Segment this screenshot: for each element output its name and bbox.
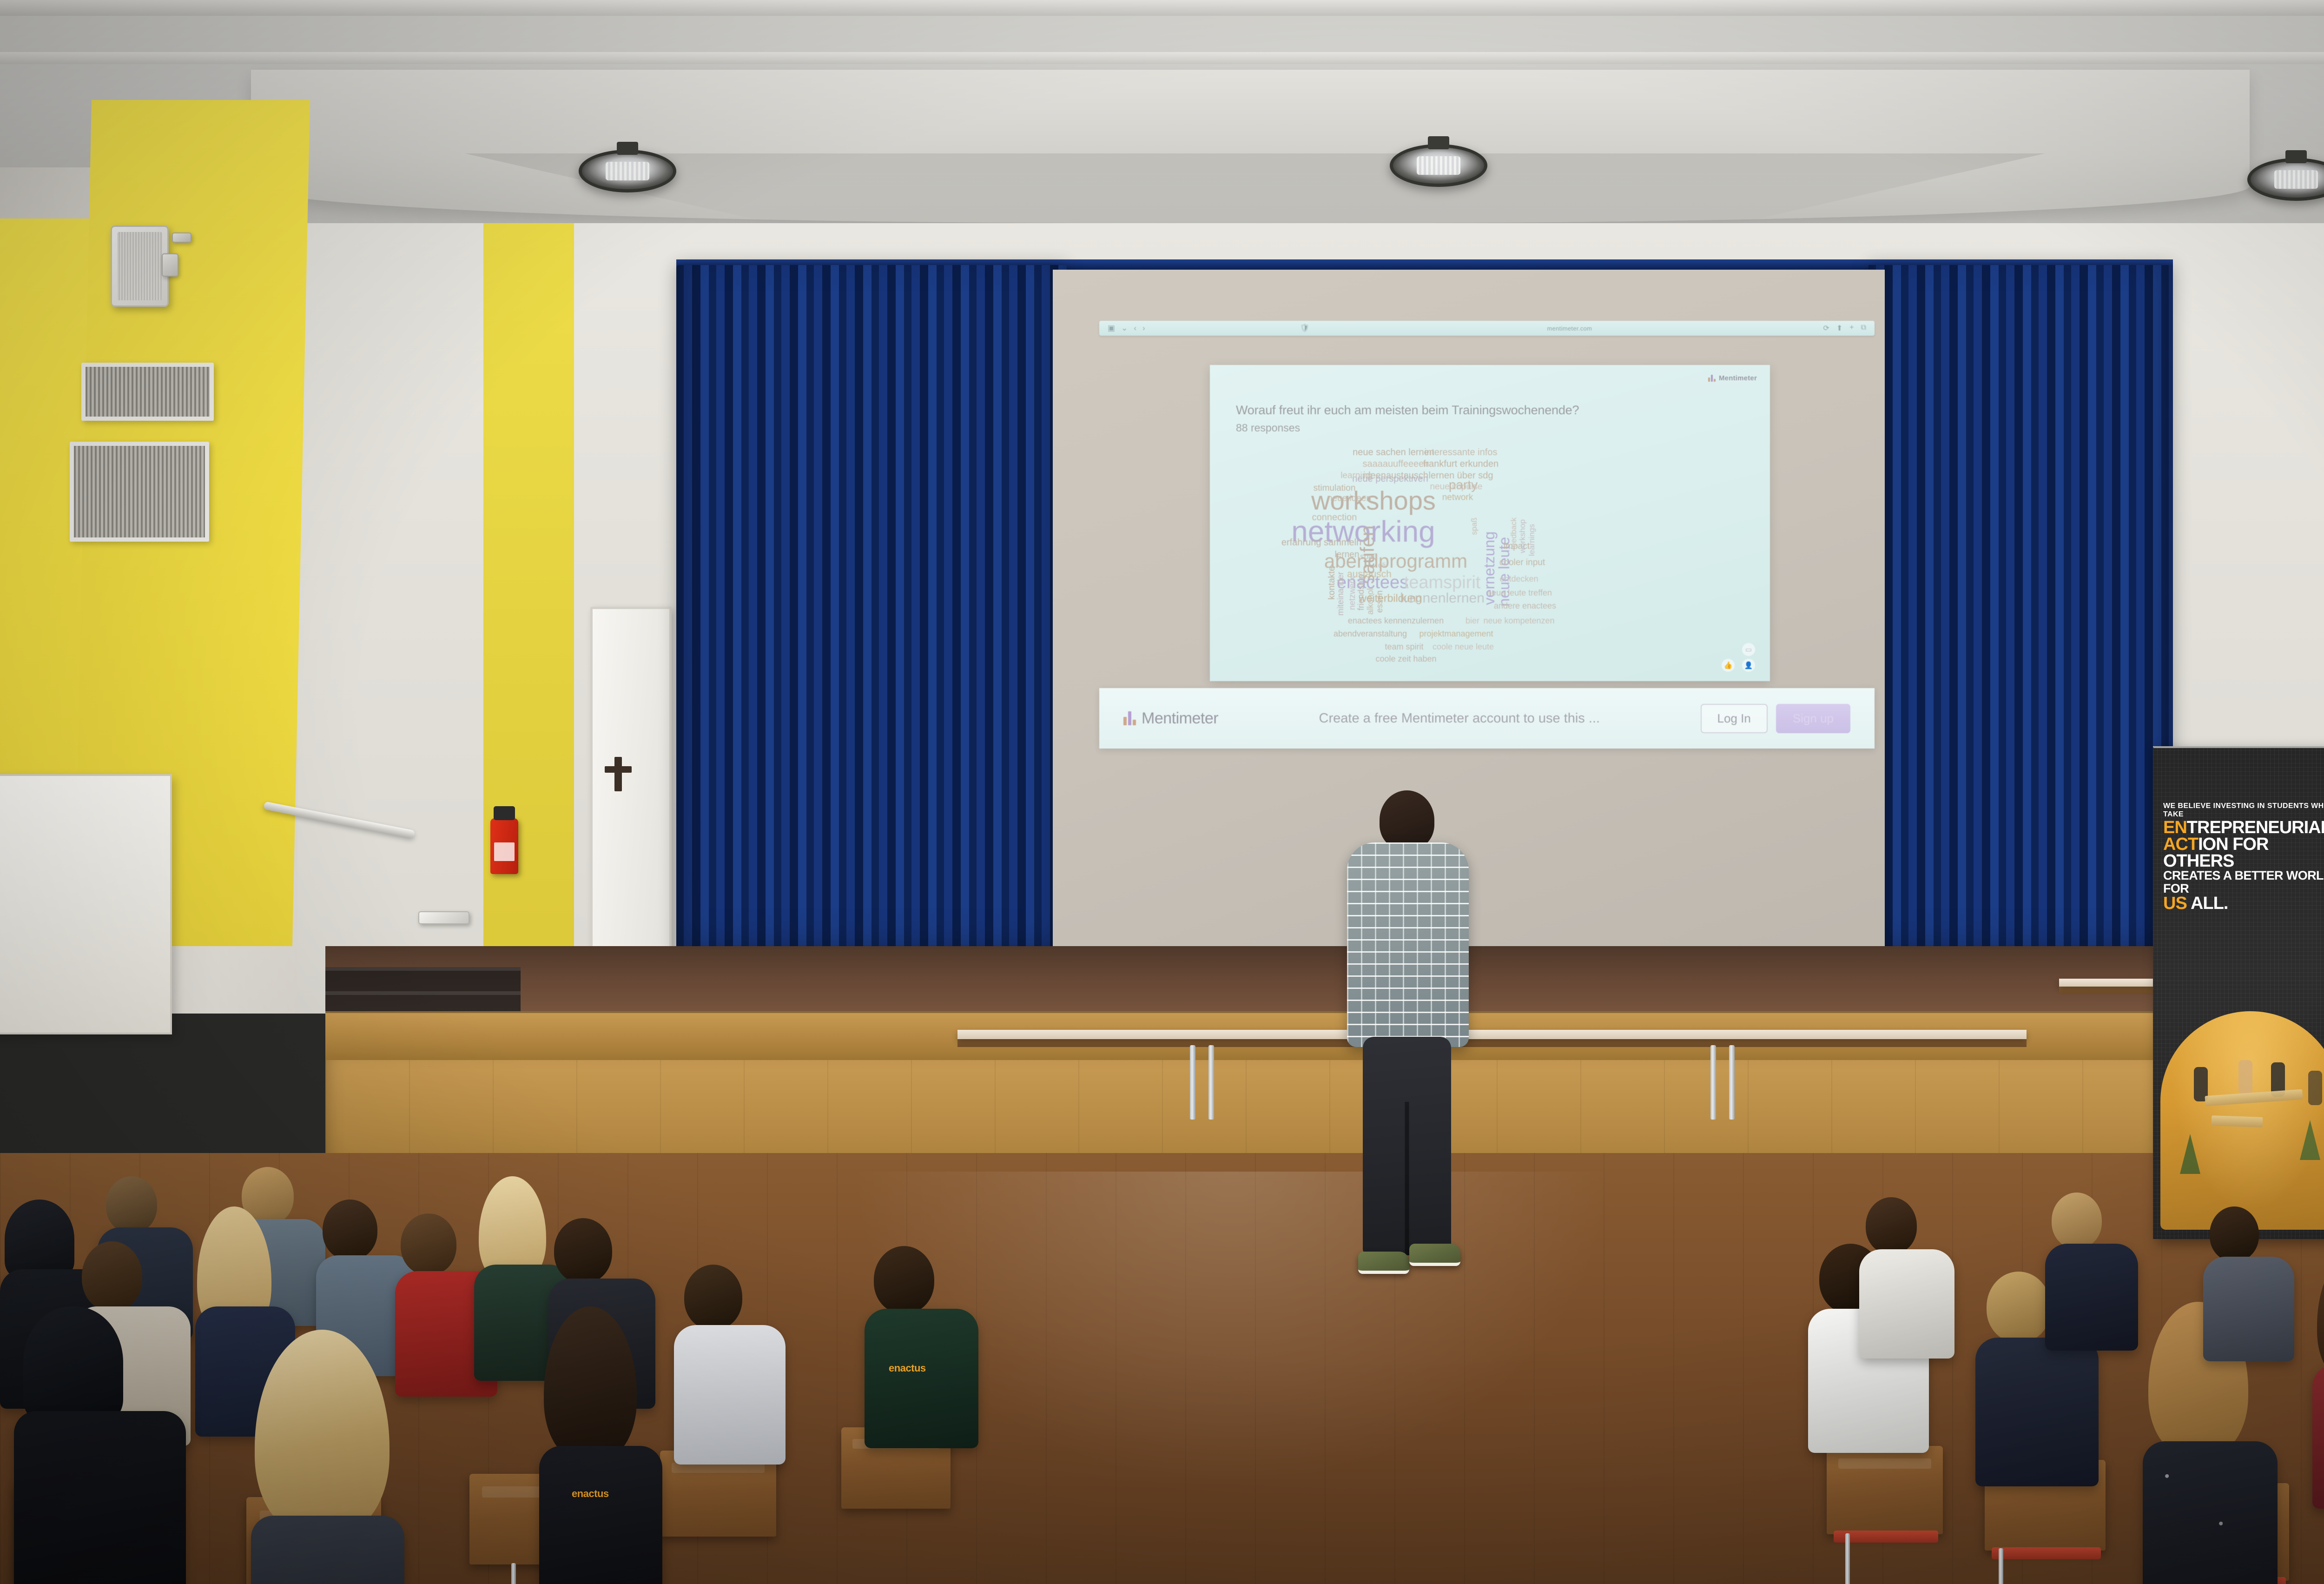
word-cloud-term: saaaauuffeeeen — [1362, 459, 1429, 469]
presenter-head — [1380, 790, 1434, 850]
shield-icon[interactable]: 🛡 — [1300, 324, 1310, 333]
stage-curtain-left — [676, 265, 1067, 972]
head — [684, 1265, 742, 1330]
mentimeter-slide: Mentimeter Worauf freut ihr euch am meis… — [1210, 365, 1770, 681]
word-cloud-term: kontakte — [1327, 566, 1336, 600]
torso — [2045, 1244, 2138, 1351]
head — [554, 1218, 612, 1283]
participant-icon[interactable]: 👤 — [1742, 659, 1755, 672]
chair-leg — [1845, 1533, 1850, 1584]
ceiling-light-icon — [579, 150, 676, 192]
hair — [2317, 1248, 2324, 1383]
head-hood — [5, 1200, 74, 1279]
word-cloud-term: enactees kennenzulernen — [1348, 616, 1444, 625]
word-cloud-term: lernen — [1335, 550, 1360, 559]
mentimeter-logo-icon — [1708, 375, 1716, 382]
presenter-shirt — [1347, 842, 1469, 1047]
audience: enactus enactus — [0, 1107, 2324, 1584]
crucifix-icon — [614, 757, 622, 791]
ceiling-light-icon — [1390, 144, 1487, 187]
chevron-down-icon[interactable]: ⌄ — [1121, 324, 1128, 333]
word-cloud-term: stimulation — [1314, 484, 1356, 493]
word-cloud-term: essen — [1375, 590, 1384, 613]
banner-message: Create a free Mentimeter account to use … — [1218, 711, 1700, 726]
word-cloud-term: learnings — [1528, 524, 1536, 556]
head — [1866, 1197, 1917, 1254]
word-cloud-term: frankfurt erkunden — [1423, 459, 1499, 469]
word-cloud-term: andere enactees — [1494, 602, 1556, 610]
head — [2210, 1206, 2259, 1261]
word-cloud-term: coole zeit haben — [1375, 655, 1436, 663]
head — [401, 1213, 456, 1275]
browser-toolbar: ▣ ⌄ ‹ › 🛡 mentimeter.com ⟳ ⬆ + ⧉ — [1099, 321, 1875, 336]
av-bracket — [172, 232, 191, 243]
chair-leg — [1999, 1548, 2003, 1584]
chair[interactable] — [1827, 1446, 1943, 1534]
word-cloud-term: bier — [1466, 616, 1479, 625]
word-cloud-term: abendveranstaltung — [1334, 630, 1407, 638]
bench-table — [957, 1030, 2027, 1039]
sign-up-button[interactable]: Sign up — [1776, 704, 1850, 733]
word-cloud-term: neue leute treffen — [1487, 589, 1552, 597]
chair-leg — [511, 1563, 516, 1584]
fire-extinguisher-icon — [490, 818, 518, 874]
wall-speaker-icon — [111, 225, 169, 307]
enactus-tee-logo: enactus — [572, 1488, 609, 1500]
head-hood — [23, 1306, 123, 1423]
projected-browser-window: ▣ ⌄ ‹ › 🛡 mentimeter.com ⟳ ⬆ + ⧉ Mentime… — [1095, 321, 1880, 753]
word-cloud-term: alkohol — [1366, 588, 1374, 615]
torso — [2312, 1365, 2324, 1509]
back-button-icon[interactable]: ‹ — [1134, 324, 1136, 333]
head — [1987, 1272, 2051, 1342]
acoustic-panel — [81, 363, 214, 421]
torso — [539, 1446, 662, 1584]
word-cloud-term: feedback — [1510, 517, 1518, 550]
slide-response-count: 88 responses — [1236, 422, 1300, 434]
new-tab-icon[interactable]: + — [1849, 324, 1854, 333]
word-cloud-term: spaß — [1360, 553, 1378, 561]
slide-question: Worauf freut ihr euch am meisten beim Tr… — [1236, 403, 1579, 418]
auditorium-scene: 22 ▣ ⌄ ‹ › 🛡 mentimeter.com ⟳ ⬆ + ⧉ — [0, 0, 2324, 1584]
word-cloud-term: workshop — [1519, 519, 1526, 553]
torso — [2143, 1441, 2278, 1584]
screen-icon[interactable]: ▭ — [1742, 643, 1755, 656]
word-cloud-term: coole neue leute — [1433, 643, 1494, 651]
torso — [14, 1411, 186, 1584]
thumbs-up-icon[interactable]: 👍 — [1722, 659, 1735, 672]
word-cloud-term: neue ideen — [1327, 494, 1371, 503]
torso — [1859, 1249, 1954, 1359]
sidebar-toggle-icon[interactable]: ▣ — [1108, 324, 1115, 333]
head — [106, 1176, 157, 1233]
word-cloud-term: neue impulse — [1430, 483, 1482, 491]
signup-banner: Mentimeter Create a free Mentimeter acco… — [1099, 688, 1875, 749]
stage-curtain-right — [1868, 265, 2173, 972]
word-cloud-term: interessante infos — [1425, 448, 1498, 457]
torso — [251, 1516, 404, 1584]
power-outlet — [418, 911, 469, 924]
word-cloud-term: ideenaustausch — [1363, 471, 1428, 480]
rollup-line5-rest: ALL. — [2191, 894, 2228, 913]
word-cloud-term: cooler input — [1499, 558, 1545, 567]
torso — [2203, 1257, 2294, 1361]
word-cloud-term: entdecken — [1499, 575, 1538, 583]
log-in-button[interactable]: Log In — [1701, 704, 1768, 733]
word-cloud-term: projektmanagement — [1419, 630, 1493, 638]
torso — [865, 1309, 978, 1448]
rollup-line3: ACTION FOR OTHERS — [2163, 836, 2324, 869]
mentimeter-banner-logo: Mentimeter — [1123, 709, 1218, 728]
torso — [674, 1325, 786, 1465]
mentimeter-watermark: Mentimeter — [1708, 374, 1757, 382]
word-cloud-term: neue sachen lernen — [1353, 448, 1434, 457]
head — [2052, 1193, 2102, 1248]
av-bracket — [162, 253, 178, 277]
forward-button-icon[interactable]: › — [1142, 324, 1145, 333]
chair-cushion — [1992, 1547, 2101, 1559]
word-cloud: networkingworkshopsabendprogrammsaufenen… — [1210, 435, 1770, 667]
share-icon[interactable]: ⬆ — [1836, 324, 1842, 333]
ceiling — [0, 0, 2324, 260]
tab-overview-icon[interactable]: ⧉ — [1861, 324, 1866, 333]
word-cloud-term: spaß — [1470, 517, 1478, 535]
reload-icon[interactable]: ⟳ — [1823, 324, 1829, 333]
rollup-line5-highlight: US — [2163, 894, 2187, 913]
mentimeter-watermark-label: Mentimeter — [1719, 374, 1757, 382]
mentimeter-logo-icon — [1123, 711, 1136, 725]
head — [82, 1241, 142, 1311]
acoustic-panel — [70, 442, 209, 542]
enactus-tee-logo: enactus — [889, 1362, 926, 1374]
word-cloud-term: friendship — [1357, 574, 1365, 610]
torso — [1975, 1338, 2099, 1486]
word-cloud-term: teamspirit — [1404, 574, 1481, 591]
word-cloud-term: oli — [1378, 562, 1386, 570]
exit-door[interactable] — [590, 607, 672, 951]
address-bar[interactable]: mentimeter.com — [1316, 325, 1823, 332]
word-cloud-term: learning — [1340, 471, 1372, 480]
word-cloud-term: miteinander — [1336, 572, 1345, 616]
rollup-line4: CREATES A BETTER WORLD FOR — [2163, 869, 2324, 895]
word-cloud-term: erfahrung sammeln — [1281, 538, 1361, 547]
word-cloud-term: network — [1442, 493, 1473, 502]
word-cloud-term: netzwerk — [1348, 577, 1356, 610]
word-cloud-term: connection — [1312, 513, 1357, 522]
word-cloud-term: lernen über sdg — [1429, 471, 1493, 480]
head — [874, 1246, 934, 1313]
flipchart — [0, 774, 172, 1034]
rollup-line1: WE BELIEVE INVESTING IN STUDENTS WHO TAK… — [2163, 802, 2324, 819]
head — [323, 1200, 377, 1260]
word-cloud-term: team spirit — [1385, 643, 1423, 651]
rollup-line5: US ALL. — [2163, 895, 2324, 912]
word-cloud-term: neue kompetenzen — [1483, 616, 1554, 625]
slide-footer-controls[interactable]: 👍 ▭ 👤 — [1722, 643, 1755, 672]
mentimeter-banner-label: Mentimeter — [1142, 709, 1218, 728]
stage-floor — [325, 946, 2324, 1021]
rollup-line2: ENTREPRENEURIAL — [2163, 819, 2324, 836]
